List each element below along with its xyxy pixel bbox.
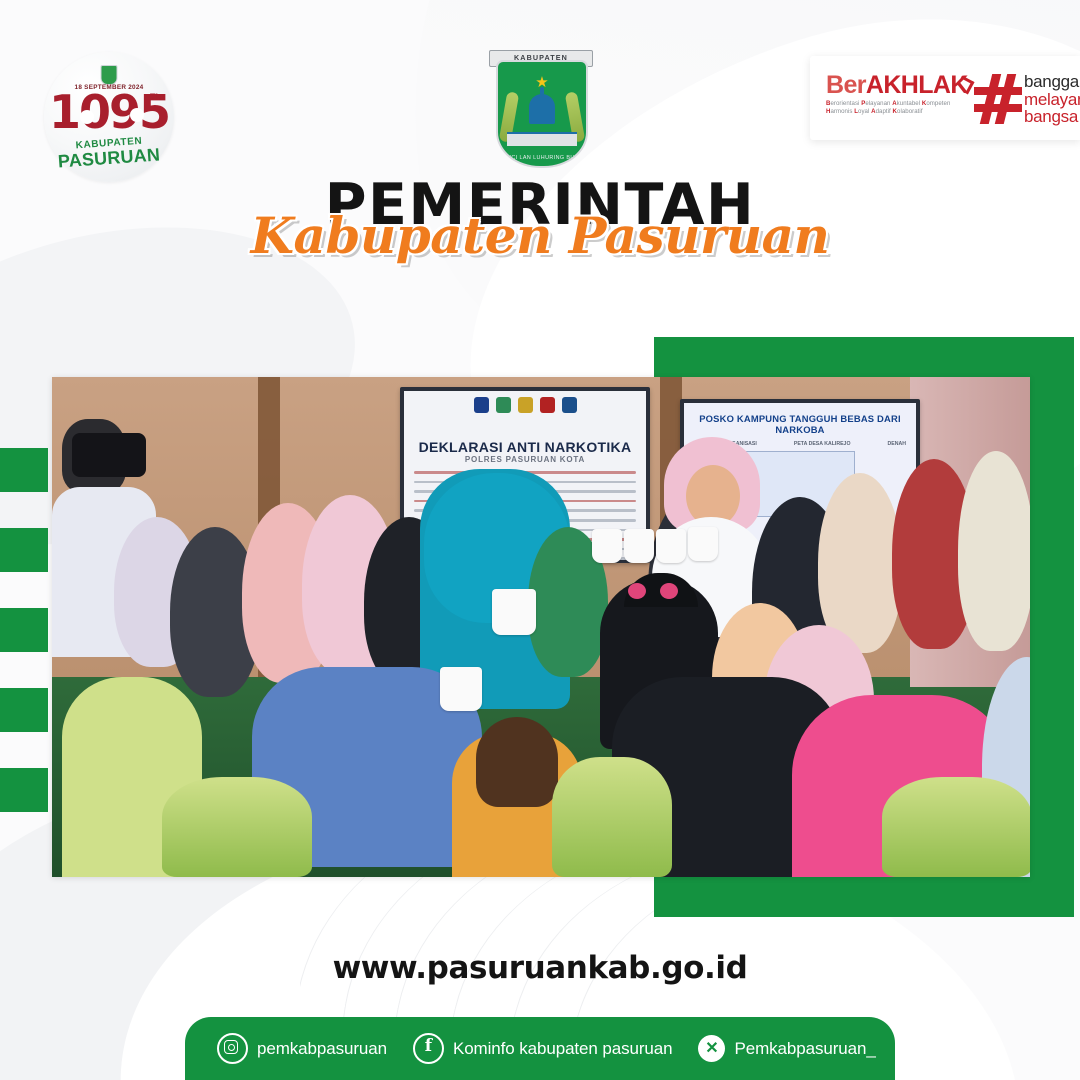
x-handle: Pemkabpasuruan_ bbox=[734, 1039, 875, 1059]
photo-hairbow bbox=[660, 583, 678, 599]
banner-left-title: DEKLARASI ANTI NARKOTIKA bbox=[404, 439, 646, 455]
website-url: www.pasuruankab.go.id bbox=[0, 950, 1080, 986]
green-stripe bbox=[0, 608, 48, 652]
photo-food-cup bbox=[688, 527, 718, 561]
coat-of-arms-logo: KABUPATEN PASURUAN ★ SUCI LAN LUHURING B… bbox=[483, 46, 597, 172]
crest-base-shape bbox=[507, 132, 577, 146]
social-item-x[interactable]: ✕ Pemkabpasuruan_ bbox=[698, 1035, 875, 1062]
poster-canvas: 18 SEPTEMBER 2024 1095 Th KABUPATEN PASU… bbox=[0, 0, 1080, 1080]
title-script-text: Kabupaten Pasuruan bbox=[0, 206, 1080, 265]
photo-food-cup bbox=[492, 589, 536, 635]
photo-banana-leaf bbox=[882, 777, 1030, 877]
photo-banana-leaf bbox=[162, 777, 312, 877]
tagline-line1: bangga bbox=[1024, 73, 1080, 91]
photo-person bbox=[958, 451, 1030, 651]
anniversary-logo: 18 SEPTEMBER 2024 1095 Th KABUPATEN PASU… bbox=[44, 52, 174, 182]
banner-right-right-label: DENAH bbox=[888, 441, 906, 447]
flower-dot-1 bbox=[80, 110, 94, 124]
banner-right-center-label: PETA DESA KALIREJO bbox=[794, 441, 851, 447]
green-stripe-decoration bbox=[0, 448, 48, 848]
event-photograph: DEKLARASI ANTI NARKOTIKA POLRES PASURUAN… bbox=[52, 377, 1030, 877]
berakhlak-subtitle-line2: Harmonis Loyal Adaptif Kolaboratif bbox=[826, 108, 966, 116]
berakhlak-wordmark: BerAKHLAK bbox=[826, 72, 966, 98]
green-stripe bbox=[0, 528, 48, 572]
banner-seal-row bbox=[404, 397, 646, 413]
mini-crest-icon bbox=[101, 65, 118, 85]
green-stripe bbox=[0, 448, 48, 492]
instagram-icon bbox=[217, 1033, 248, 1064]
crest-shield: ★ SUCI LAN LUHURING BUDI bbox=[496, 60, 588, 168]
banner-left-subtitle: POLRES PASURUAN KOTA bbox=[404, 455, 646, 464]
hashtag-icon bbox=[974, 74, 1022, 124]
social-item-facebook[interactable]: f Kominfo kabupaten pasuruan bbox=[413, 1033, 673, 1064]
photo-food-cup bbox=[656, 529, 686, 563]
berakhlak-subtitle: Berorientasi Pelayanan Akuntabel Kompete… bbox=[826, 100, 966, 115]
mosque-dome-icon bbox=[529, 94, 555, 124]
berakhlak-logo: BerAKHLAK Berorientasi Pelayanan Akuntab… bbox=[810, 56, 1080, 140]
photo-food-cup bbox=[592, 529, 622, 563]
poster-title: PEMERINTAH Kabupaten Pasuruan bbox=[0, 176, 1080, 234]
banner-right-title: POSKO KAMPUNG TANGGUH BEBAS DARI NARKOBA bbox=[684, 413, 916, 435]
flower-dot-2 bbox=[130, 108, 144, 122]
photo-camera bbox=[72, 433, 146, 477]
social-item-instagram[interactable]: pemkabpasuruan bbox=[217, 1033, 387, 1064]
berakhlak-subtitle-line1: Berorientasi Pelayanan Akuntabel Kompete… bbox=[826, 100, 966, 108]
berakhlak-wordmark-group: BerAKHLAK Berorientasi Pelayanan Akuntab… bbox=[826, 72, 966, 115]
photo-food-cup bbox=[440, 667, 482, 711]
photo-banana-leaf bbox=[552, 757, 672, 877]
tagline-line2: melayani bbox=[1024, 91, 1080, 109]
green-stripe bbox=[0, 768, 48, 812]
green-stripe bbox=[0, 688, 48, 732]
x-twitter-icon: ✕ bbox=[698, 1035, 725, 1062]
berakhlak-tagline: bangga melayani bangsa bbox=[1024, 73, 1080, 126]
social-footer-bar: pemkabpasuruan f Kominfo kabupaten pasur… bbox=[185, 1017, 895, 1080]
photo-hairbow bbox=[628, 583, 646, 599]
anniversary-ordinal: Th bbox=[150, 92, 161, 102]
photo-child-hair bbox=[476, 717, 558, 807]
instagram-handle: pemkabpasuruan bbox=[257, 1039, 387, 1059]
crest-motto: SUCI LAN LUHURING BUDI bbox=[498, 155, 586, 161]
facebook-icon: f bbox=[413, 1033, 444, 1064]
facebook-handle: Kominfo kabupaten pasuruan bbox=[453, 1039, 673, 1059]
photo-food-cup bbox=[624, 529, 654, 563]
tagline-line3: bangsa bbox=[1024, 108, 1080, 126]
